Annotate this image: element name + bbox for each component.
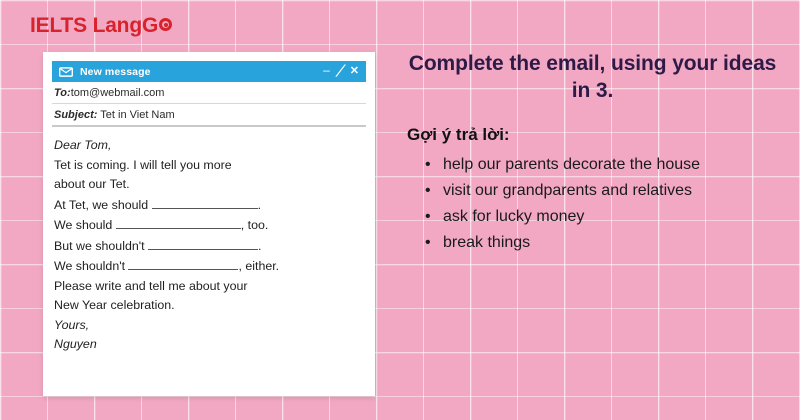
expand-icon[interactable]: ╱ (337, 67, 343, 77)
body-line-3-before: At Tet, we should (54, 198, 148, 212)
brand-logo-text: IELTS LangG (30, 14, 158, 38)
email-window: New message – ╱ ✕ To:tom@webmail.com Sub… (52, 61, 366, 387)
list-item: ask for lucky money (425, 204, 780, 229)
to-label: To: (54, 87, 71, 99)
body-line-1: Tet is coming. I will tell you more (54, 156, 364, 176)
brand-logo: IELTS LangG (30, 14, 172, 38)
to-value: tom@webmail.com (71, 87, 165, 99)
body-line-8: New Year celebration. (54, 296, 364, 316)
body-signature: Nguyen (54, 335, 364, 355)
body-line-6-before: We shouldn't (54, 259, 125, 273)
email-window-controls: – ╱ ✕ (323, 66, 359, 78)
body-line-5: But we shouldn't . (54, 236, 364, 257)
page-title: Complete the email, using your ideas in … (405, 50, 780, 104)
body-line-3: At Tet, we should . (54, 195, 364, 216)
blank-field-2[interactable] (116, 215, 241, 229)
email-subject-field[interactable]: Subject: Tet in Viet Nam (52, 104, 366, 127)
body-line-7: Please write and tell me about your (54, 277, 364, 297)
hint-list: help our parents decorate the house visi… (405, 152, 780, 255)
email-compose-card: New message – ╱ ✕ To:tom@webmail.com Sub… (43, 52, 375, 396)
subject-value: Tet in Viet Nam (100, 109, 174, 121)
body-line-4-after: , too. (241, 218, 269, 232)
ring-dot-icon (159, 18, 172, 31)
body-line-4: We should , too. (54, 215, 364, 236)
body-closing: Yours, (54, 316, 364, 336)
hint-label: Gợi ý trả lời: (407, 124, 780, 146)
list-item: visit our grandparents and relatives (425, 178, 780, 203)
blank-field-4[interactable] (128, 256, 238, 270)
email-titlebar-text: New message (80, 66, 323, 78)
blank-field-1[interactable] (152, 195, 258, 209)
minimize-icon[interactable]: – (323, 64, 330, 76)
body-line-3-after: . (258, 198, 261, 212)
email-to-field[interactable]: To:tom@webmail.com (52, 82, 366, 104)
body-line-5-before: But we shouldn't (54, 239, 145, 253)
blank-field-3[interactable] (148, 236, 258, 250)
body-line-4-before: We should (54, 218, 112, 232)
email-titlebar: New message – ╱ ✕ (52, 61, 366, 82)
body-line-6-after: , either. (238, 259, 279, 273)
instruction-panel: Complete the email, using your ideas in … (405, 50, 780, 256)
close-icon[interactable]: ✕ (350, 66, 359, 77)
body-line-5-after: . (258, 239, 261, 253)
email-body-text[interactable]: Dear Tom, Tet is coming. I will tell you… (52, 127, 366, 387)
envelope-icon (59, 67, 73, 77)
body-line-2: about our Tet. (54, 175, 364, 195)
slide-canvas: IELTS LangG New message – ╱ ✕ To:tom@web… (0, 0, 800, 420)
body-greeting: Dear Tom, (54, 136, 364, 156)
subject-label: Subject: (54, 109, 97, 121)
body-line-6: We shouldn't , either. (54, 256, 364, 277)
list-item: help our parents decorate the house (425, 152, 780, 177)
list-item: break things (425, 230, 780, 255)
